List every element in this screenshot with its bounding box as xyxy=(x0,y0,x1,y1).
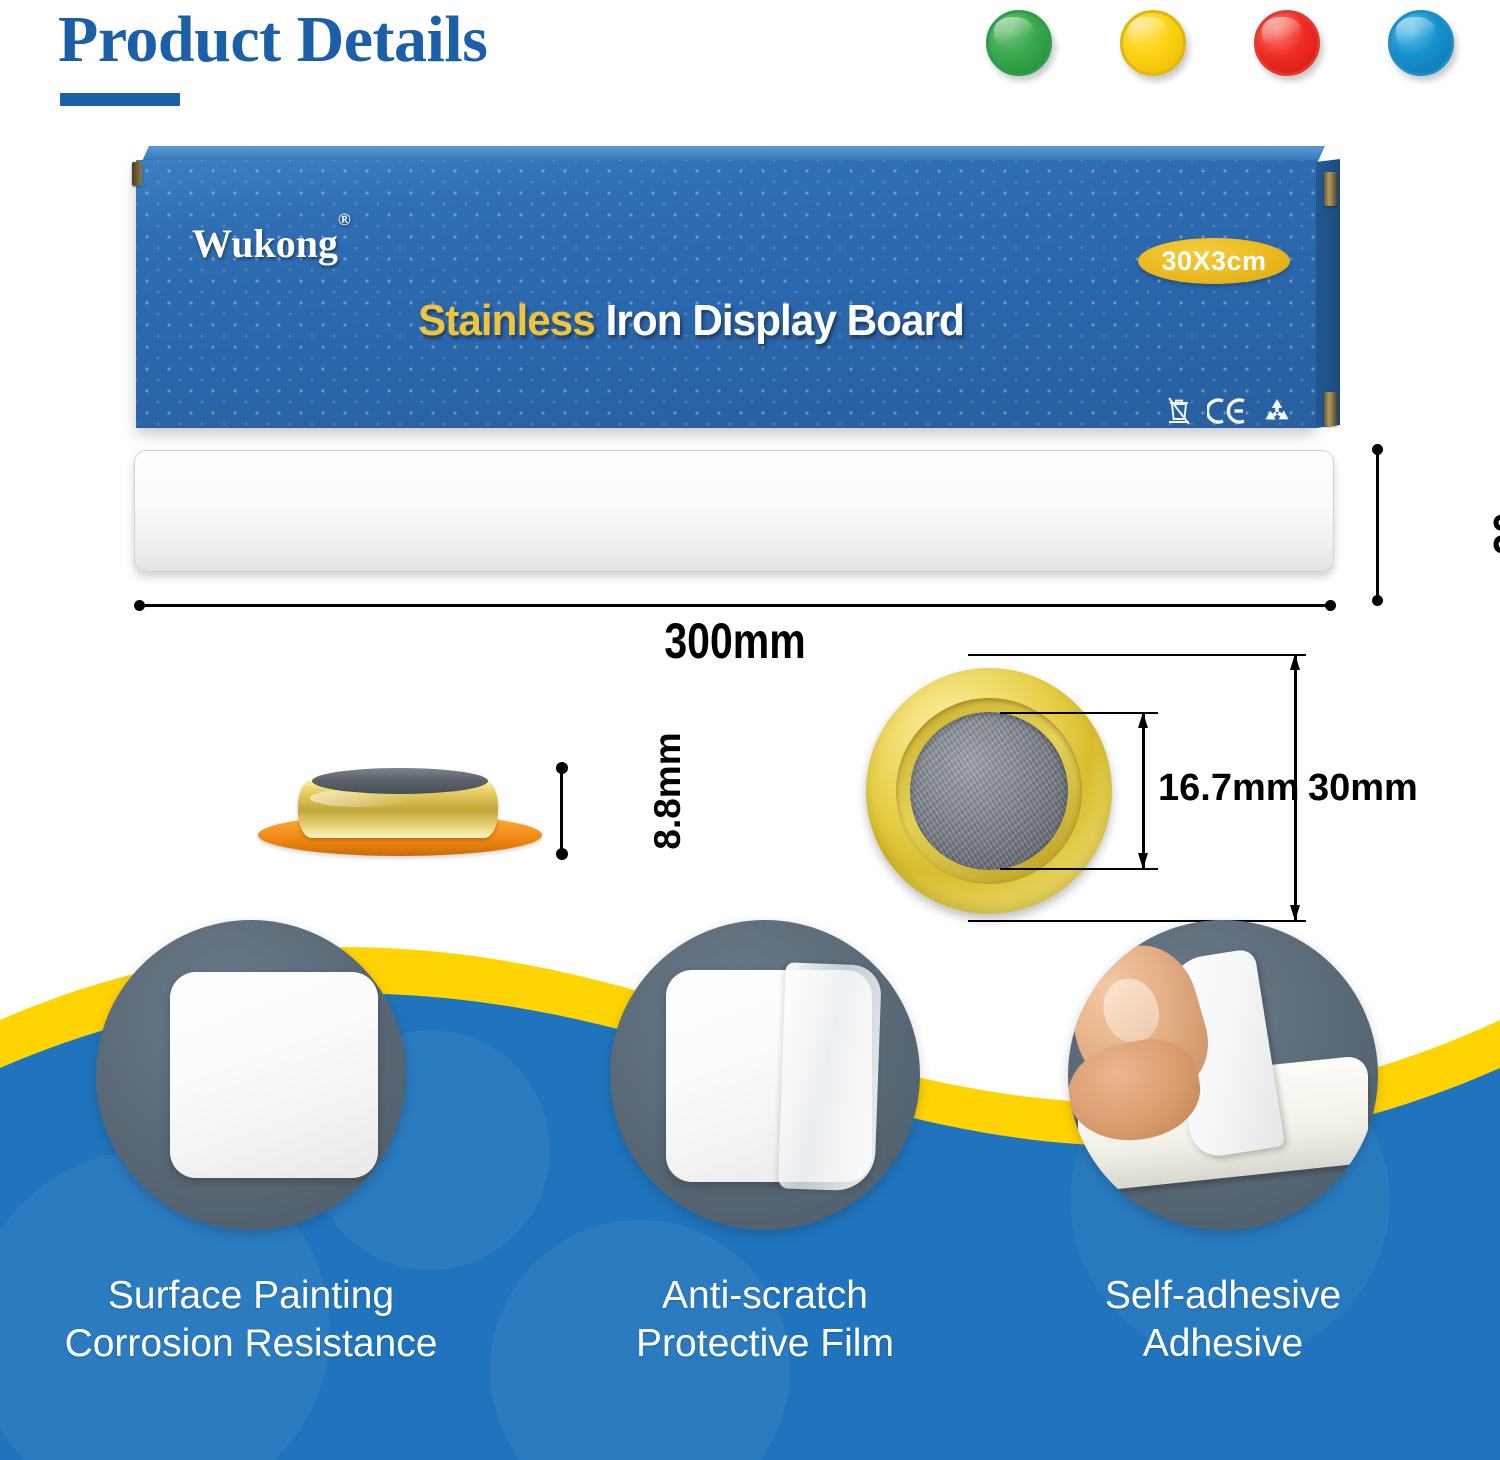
arrow-shaft xyxy=(1294,654,1297,921)
steel-display-board xyxy=(134,450,1334,572)
color-dot-red xyxy=(1254,10,1320,76)
width-dimension-line xyxy=(1372,444,1383,606)
infographic-page: Product Details Wukong® Stainless Iron D… xyxy=(0,0,1500,1460)
width-dimension-label: 30mm xyxy=(1483,423,1500,574)
color-dot-yellow xyxy=(1120,10,1186,76)
arrowhead-down-icon xyxy=(1138,853,1148,869)
peeling-protective-film-photo xyxy=(610,920,920,1230)
film-peel-flap xyxy=(778,962,882,1191)
metal-plate xyxy=(170,972,378,1178)
extension-line xyxy=(968,654,1306,656)
color-dot-blue xyxy=(1388,10,1454,76)
caption-line-2: Corrosion Resistance xyxy=(31,1320,471,1368)
brand-name: Wukong xyxy=(192,221,338,266)
arrow-shaft xyxy=(1142,712,1145,869)
color-dots-row xyxy=(986,4,1456,84)
hand-peeling-adhesive-backing-photo xyxy=(1068,920,1378,1230)
feature-caption: Surface Painting Corrosion Resistance xyxy=(31,1272,471,1367)
headline-rest: Iron Display Board xyxy=(595,296,964,345)
weee-bin-icon xyxy=(1166,396,1192,431)
dimension-bar xyxy=(140,604,1330,607)
dimension-bar xyxy=(560,768,563,854)
certification-icons xyxy=(1166,396,1292,431)
dimension-endpoint xyxy=(1325,600,1336,611)
color-dot-green xyxy=(986,10,1052,76)
feature-caption: Anti-scratch Protective Film xyxy=(545,1272,985,1367)
outer-diameter-arrow xyxy=(1290,654,1301,921)
white-metal-plate-photo xyxy=(96,920,406,1230)
headline-highlight: Stainless xyxy=(418,296,595,345)
magnet-side-view xyxy=(250,752,550,862)
caption-line-2: Adhesive xyxy=(1003,1320,1443,1368)
caption-line-1: Anti-scratch xyxy=(545,1272,985,1320)
feature-caption: Self-adhesive Adhesive xyxy=(1003,1272,1443,1367)
recycle-icon xyxy=(1262,397,1292,430)
title-underline xyxy=(60,93,180,106)
size-badge: 30X3cm xyxy=(1138,238,1290,284)
box-staple xyxy=(1324,392,1337,426)
box-staple xyxy=(132,162,142,186)
dimension-bar xyxy=(1376,450,1379,600)
caption-line-2: Protective Film xyxy=(545,1320,985,1368)
thickness-dimension-label: 8.8mm xyxy=(647,711,689,871)
core-diameter-label: 16.7mm xyxy=(1158,767,1300,810)
dimension-endpoint xyxy=(1372,595,1383,606)
magnet-steel-core xyxy=(910,712,1068,870)
dimension-endpoint xyxy=(556,848,568,860)
magnet-top-view xyxy=(866,668,1112,914)
product-box: Wukong® Stainless Iron Display Board 30X… xyxy=(136,146,1340,432)
box-front-face: Wukong® Stainless Iron Display Board 30X… xyxy=(136,160,1316,428)
thickness-dimension-line xyxy=(556,762,567,860)
extension-line xyxy=(1000,712,1158,714)
ce-mark-icon xyxy=(1207,397,1247,430)
caption-line-1: Self-adhesive xyxy=(1003,1272,1443,1320)
outer-diameter-label: 30mm xyxy=(1308,767,1418,810)
magnet-steel-disc xyxy=(312,768,488,794)
registered-mark-icon: ® xyxy=(338,210,351,229)
length-dimension-line xyxy=(134,600,1336,610)
box-staple xyxy=(1324,172,1337,206)
length-dimension-label: 300mm xyxy=(132,612,1337,670)
extension-line xyxy=(1000,868,1158,870)
page-title: Product Details xyxy=(58,2,487,78)
core-diameter-arrow xyxy=(1138,712,1149,869)
features-wave-section: Surface Painting Corrosion Resistance An… xyxy=(0,900,1500,1460)
brand-logo: Wukong® xyxy=(192,220,351,267)
caption-line-1: Surface Painting xyxy=(31,1272,471,1320)
box-headline: Stainless Iron Display Board xyxy=(418,296,964,346)
